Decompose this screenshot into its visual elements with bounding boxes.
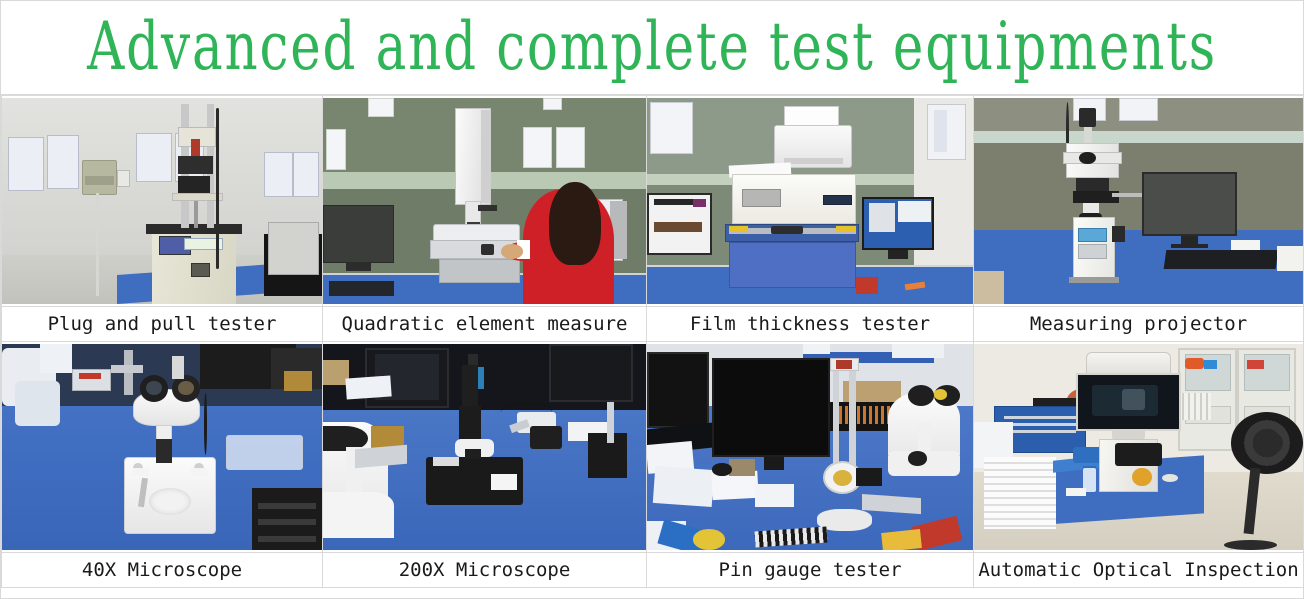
caption-pin-gauge-tester: Pin gauge tester [647, 561, 973, 580]
gallery-row-1-captions: Plug and pull tester Quadratic element m… [2, 307, 1304, 342]
eyepiece-lens [1079, 152, 1095, 164]
photo-quadratic-element-measure[interactable] [323, 98, 646, 304]
fixture-post [124, 350, 134, 395]
equipment-gallery-page: Advanced and complete test equipments [0, 0, 1304, 599]
optics-arm [478, 205, 497, 211]
monitor-main-stand [764, 457, 784, 469]
stage-arm [1112, 193, 1142, 197]
caption-cell-5: 40X Microscope [2, 553, 323, 588]
stage-base [439, 259, 520, 284]
wall-document [523, 127, 552, 168]
wall-document [650, 102, 692, 154]
monitor [1142, 172, 1237, 236]
bench-paper [755, 484, 794, 507]
brass-fixture [284, 371, 313, 392]
column-shadow [481, 110, 491, 203]
tester-rod [194, 201, 198, 228]
fixture-arm [111, 365, 143, 373]
red-bin [856, 277, 879, 293]
floor-carton [974, 271, 1004, 304]
device-indicator [79, 373, 101, 379]
caption-cell-1: Plug and pull tester [2, 307, 323, 342]
gauge-label [836, 360, 852, 368]
monitor-right [549, 344, 633, 402]
side-module [1112, 226, 1125, 242]
cable [204, 393, 207, 455]
caption-cell-7: Pin gauge tester [647, 553, 974, 588]
plastic-bag [15, 381, 60, 426]
photo-pin-gauge-tester[interactable] [647, 344, 973, 550]
wall-box-slot [85, 176, 114, 184]
caption-film-thickness-tester: Film thickness tester [647, 315, 973, 334]
indicator-panel [823, 195, 852, 205]
monitor-right-panel [898, 201, 931, 222]
paper-stack [892, 344, 944, 358]
rack-slot [258, 536, 316, 542]
bench-paper [345, 375, 392, 399]
operator-hair [549, 182, 601, 264]
mouse [712, 463, 732, 475]
instrument-feet [1069, 277, 1118, 283]
wall-document [556, 127, 585, 168]
white-sheet-stack [984, 457, 1056, 529]
gallery-cell-7[interactable] [647, 342, 974, 553]
monitor-main [712, 358, 829, 457]
keyboard [1164, 250, 1278, 269]
tester-nameplate [742, 189, 781, 208]
aoi-camera-housing [1115, 443, 1161, 466]
tester-shelf [172, 193, 223, 201]
bench-equipment-dark [530, 426, 562, 449]
wall-document [293, 152, 319, 197]
table-grommet [1162, 474, 1178, 482]
monitor-left-sample [654, 222, 703, 232]
conduit-pipe [96, 193, 98, 296]
wall-lower [974, 143, 1303, 234]
caption-measuring-projector: Measuring projector [974, 315, 1303, 334]
microscope-stage-plate [149, 488, 191, 515]
wall-document [47, 135, 79, 189]
gallery-row-2-images [2, 342, 1304, 553]
aoi-brand-emblem [1132, 468, 1152, 487]
wall-document-inner [934, 110, 947, 151]
page-title: Advanced and complete test equipments [87, 14, 1217, 80]
gallery-cell-5[interactable] [2, 342, 323, 553]
white-card [1066, 488, 1086, 496]
wall-document [543, 98, 562, 110]
gallery-cell-2[interactable] [323, 96, 647, 307]
asset-tag [133, 468, 149, 476]
asset-tag [191, 468, 207, 476]
photo-200x-microscope[interactable] [323, 344, 646, 550]
caption-cell-4: Measuring projector [974, 307, 1304, 342]
wall-stripe [974, 131, 1303, 143]
camera-module [1079, 108, 1095, 127]
wall-document [326, 129, 345, 170]
caption-200x-microscope: 200X Microscope [323, 561, 646, 580]
stage-knob [481, 244, 494, 254]
caption-plug-and-pull-tester: Plug and pull tester [2, 315, 322, 334]
desk-paper [1277, 246, 1303, 271]
shelf-item [1247, 360, 1263, 368]
photo-automatic-optical-inspection[interactable] [974, 344, 1303, 550]
keypad [1078, 244, 1108, 258]
caption-cell-3: Film thickness tester [647, 307, 974, 342]
machine-port [191, 263, 210, 277]
stand-label [433, 457, 459, 465]
lens-barrel [459, 406, 482, 443]
trinocular-tube [172, 356, 185, 379]
wall-document [8, 137, 43, 191]
wall-document [136, 133, 171, 182]
white-card [491, 474, 517, 490]
monitor-left [323, 205, 394, 263]
tester-cabinet [729, 242, 856, 287]
objective-turret [1076, 178, 1109, 190]
caption-cell-6: 200X Microscope [323, 553, 647, 588]
paper-stack [803, 344, 829, 354]
rack-slot [258, 503, 316, 509]
lcd-display [1078, 228, 1108, 242]
gallery-cell-3[interactable] [647, 96, 974, 307]
shelf-item [1185, 358, 1205, 368]
gallery-cell-4[interactable] [974, 96, 1304, 307]
tester-fixture-upper [178, 156, 213, 175]
pedestal-fan-base [1224, 540, 1277, 550]
caption-40x-microscope: 40X Microscope [2, 561, 322, 580]
wall-switch [117, 170, 130, 186]
wall-document [264, 152, 293, 197]
drawer-marker-left [729, 226, 749, 232]
caption-cell-8: Automatic Optical Inspection [974, 553, 1304, 588]
microscope-knob [908, 451, 928, 465]
monitor-right-window [869, 203, 895, 232]
neighbouring-base [323, 492, 394, 537]
wall-document [368, 98, 394, 117]
monitor-stand [346, 263, 372, 271]
yellow-tool [881, 529, 922, 550]
photo-measuring-projector[interactable] [974, 98, 1303, 304]
gallery-cell-8[interactable] [974, 342, 1304, 553]
photo-40x-microscope[interactable] [2, 344, 322, 550]
gallery-cell-6[interactable] [323, 342, 647, 553]
gallery-row-1-images [2, 96, 1304, 307]
operator-hand [501, 244, 524, 258]
printer-output-slot [784, 158, 843, 164]
clear-tray [226, 435, 303, 470]
cable [216, 108, 219, 269]
bench-paper [652, 466, 713, 507]
vertical-post [607, 402, 613, 443]
caption-automatic-optical-inspection: Automatic Optical Inspection [974, 561, 1303, 580]
rack-slot [258, 519, 316, 525]
objective-lens [465, 449, 481, 459]
photo-plug-and-pull-tester[interactable] [2, 98, 322, 304]
gallery-cell-1[interactable] [2, 96, 323, 307]
side-machine [268, 222, 319, 276]
digital-display [856, 468, 882, 487]
gallery-row-2-captions: 40X Microscope 200X Microscope Pin gauge… [2, 553, 1304, 588]
shelf-item [1204, 360, 1217, 368]
keyboard [329, 281, 394, 295]
microscope-marker [934, 389, 947, 399]
wall-document [1119, 98, 1158, 121]
monitor-base [1171, 244, 1207, 248]
monitor-left [647, 352, 709, 428]
drawer-marker-right [836, 226, 856, 232]
page-header: Advanced and complete test equipments [1, 1, 1303, 95]
desk-paper [1231, 240, 1261, 250]
monitor-left-marker [693, 199, 706, 207]
dial-gauge-tool [693, 529, 726, 550]
monitor-right-stand [888, 250, 908, 258]
equipment-vent [1004, 416, 1076, 432]
aoi-display-sample [1122, 389, 1145, 410]
photo-film-thickness-tester[interactable] [647, 98, 973, 304]
objective-lens [156, 439, 172, 464]
binder-row [1178, 393, 1211, 420]
microscope-eyepiece-left [908, 385, 934, 406]
caption-cell-2: Quadratic element measure [323, 307, 647, 342]
drawer-handle [771, 226, 804, 234]
small-box [729, 459, 755, 475]
caption-quadratic-element-measure: Quadratic element measure [323, 315, 646, 334]
plastic-bag [40, 344, 72, 373]
equipment-grid: Plug and pull tester Quadratic element m… [1, 95, 1304, 588]
